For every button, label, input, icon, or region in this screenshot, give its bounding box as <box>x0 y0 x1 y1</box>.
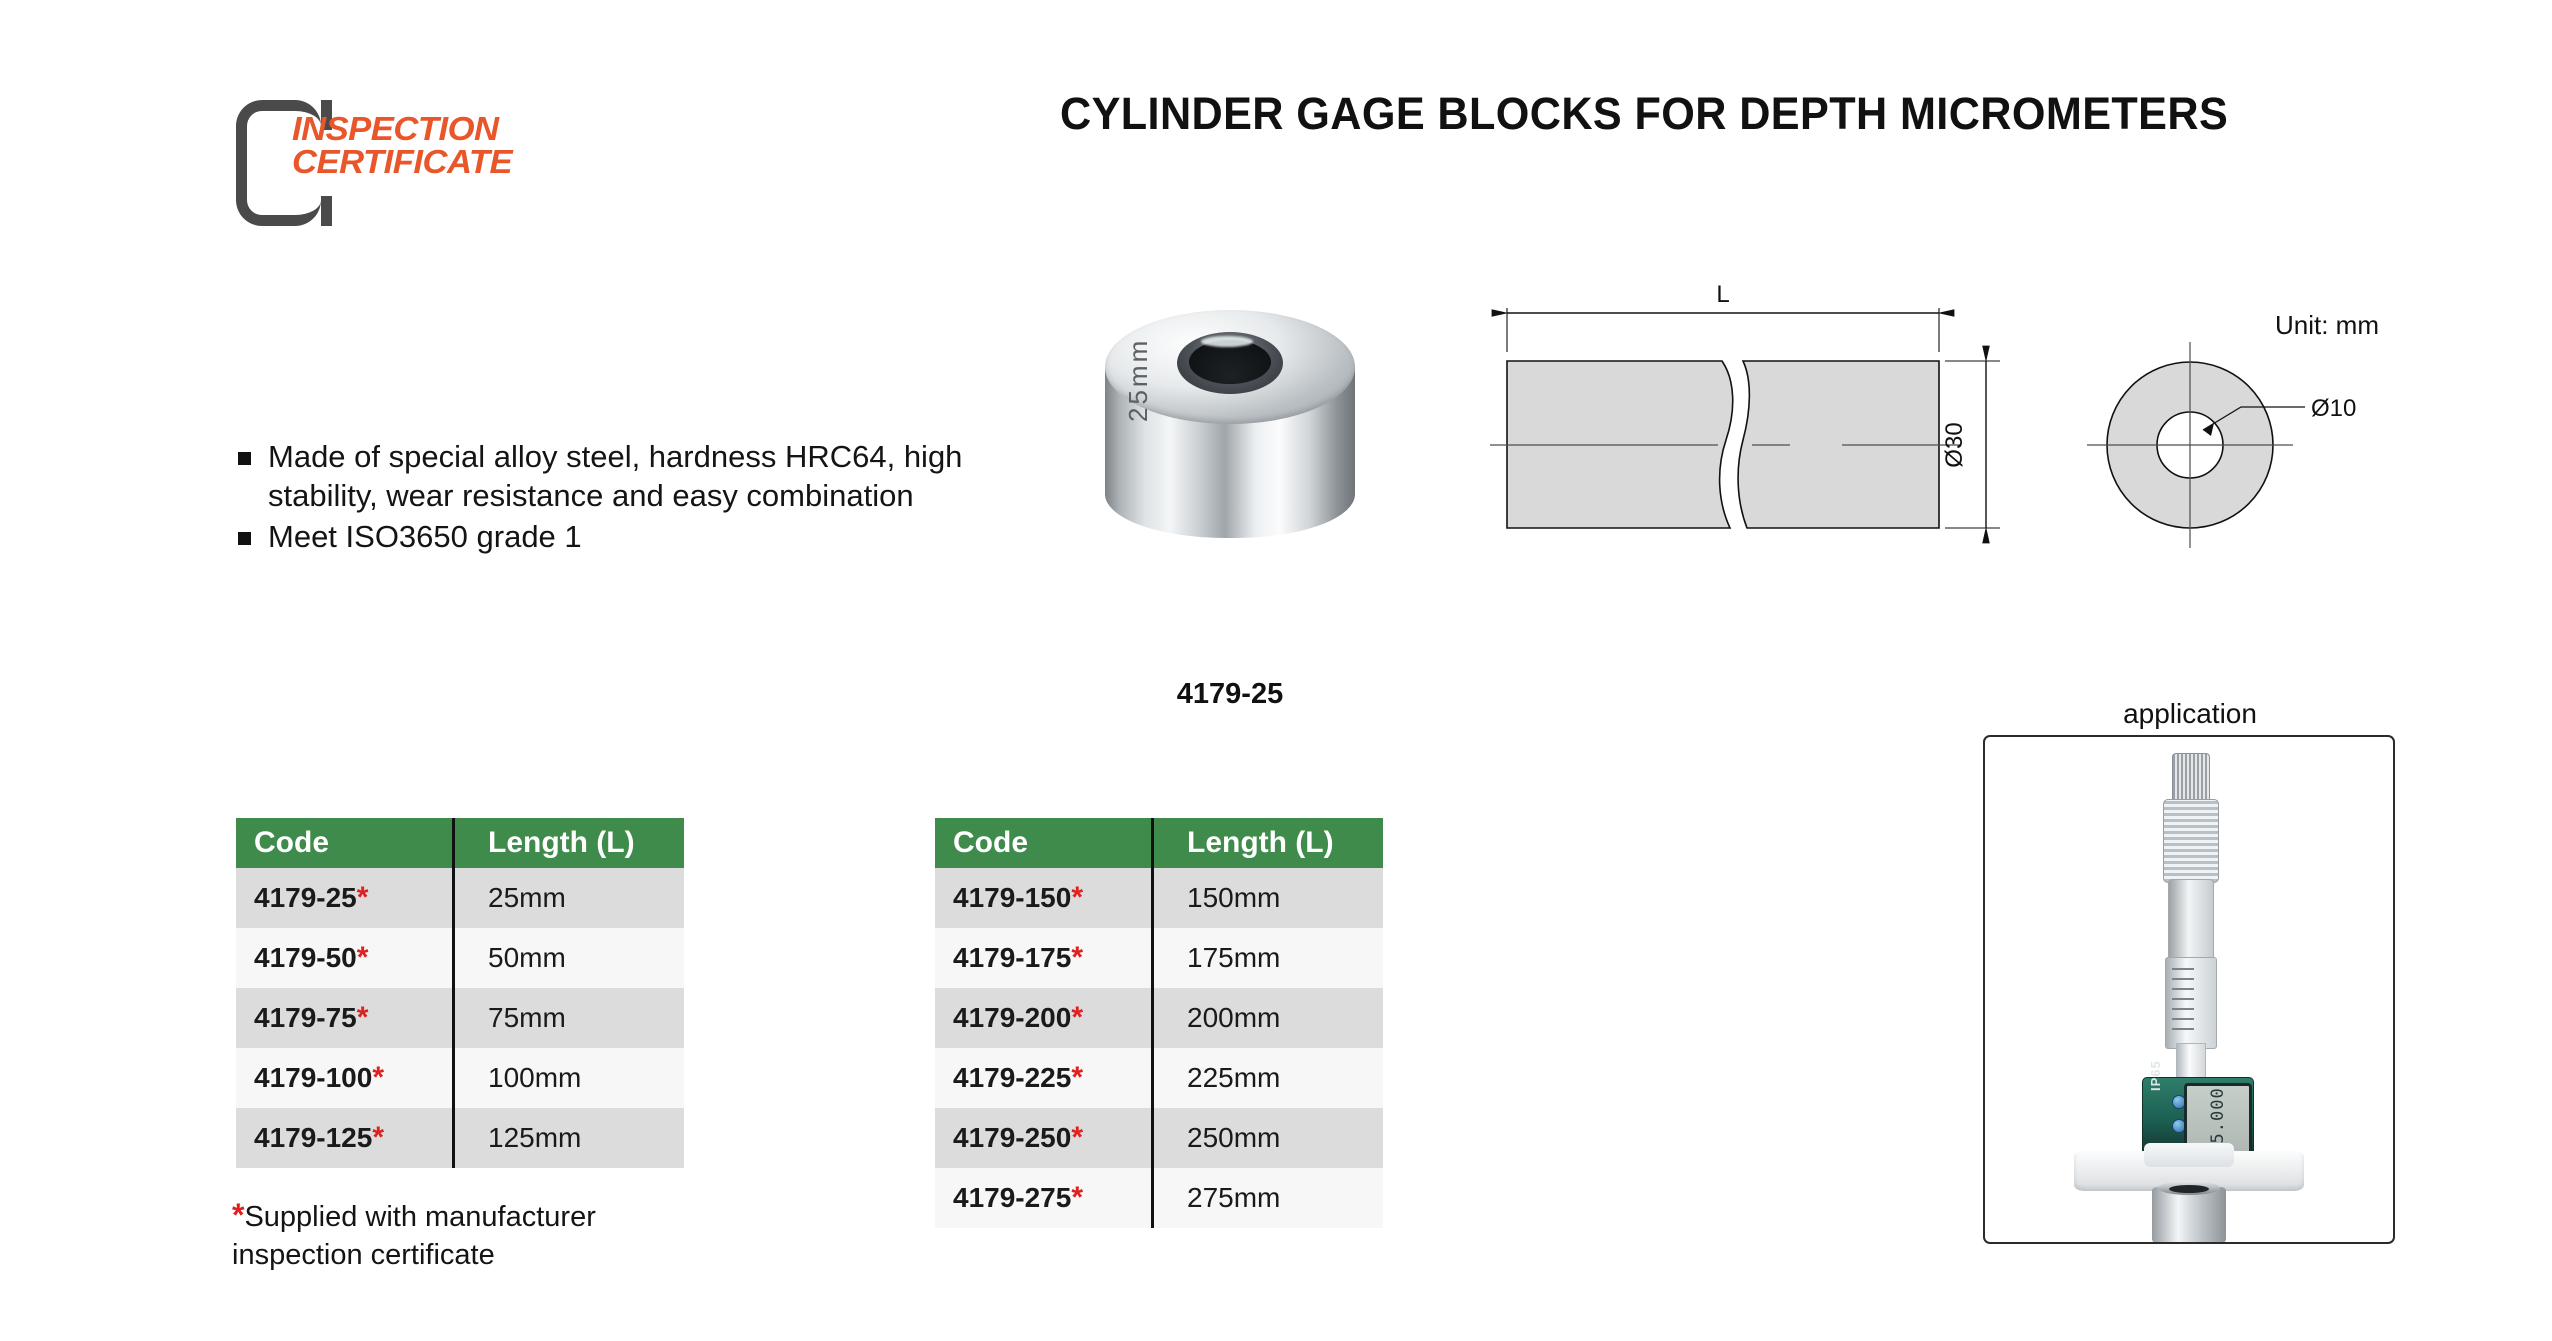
certificate-asterisk: * <box>1071 941 1083 974</box>
cell-code: 4179-125* <box>236 1108 470 1168</box>
bore-diameter-label: Ø10 <box>2311 395 2356 422</box>
code-text: 4179-25 <box>254 882 357 913</box>
cell-code: 4179-250* <box>935 1108 1169 1168</box>
cell-code: 4179-25* <box>236 868 470 928</box>
cell-code: 4179-50* <box>236 928 470 988</box>
cell-code: 4179-275* <box>935 1168 1169 1228</box>
code-text: 4179-125 <box>254 1122 372 1153</box>
code-text: 4179-175 <box>953 942 1071 973</box>
feature-list: Made of special alloy steel, hardness HR… <box>232 437 1042 558</box>
cylinder-bore-highlight <box>1201 336 1253 347</box>
footnote-text: Supplied with manufacturer inspection ce… <box>232 1201 596 1271</box>
depth-micrometer-image: IP65 25.000 <box>2064 747 2314 1232</box>
cell-length: 250mm <box>1169 1108 1383 1168</box>
cell-length: 25mm <box>470 868 684 928</box>
cell-code: 4179-225* <box>935 1048 1169 1108</box>
cell-code: 4179-150* <box>935 868 1169 928</box>
gage-block-under-micrometer <box>2152 1187 2226 1244</box>
application-panel: IP65 25.000 <box>1983 735 2395 1244</box>
column-header-code: Code <box>236 818 470 868</box>
outer-diameter-label: Ø30 <box>1941 422 1968 467</box>
certificate-asterisk: * <box>357 881 369 914</box>
inspection-certificate-logo: INSPECTION CERTIFICATE <box>236 96 556 211</box>
technical-drawing: L Ø30 Ø10 <box>1490 280 2540 580</box>
table-row[interactable]: 4179-50* 50mm <box>236 928 684 988</box>
micrometer-sleeve <box>2168 879 2214 961</box>
table-header-row: Code Length (L) <box>236 818 684 868</box>
cell-code: 4179-75* <box>236 988 470 1048</box>
table-row[interactable]: 4179-25* 25mm <box>236 868 684 928</box>
code-text: 4179-200 <box>953 1002 1071 1033</box>
cell-length: 50mm <box>470 928 684 988</box>
table-row[interactable]: 4179-150* 150mm <box>935 868 1383 928</box>
code-text: 4179-75 <box>254 1002 357 1033</box>
product-photo: 25mm <box>1085 300 1375 600</box>
certificate-asterisk: * <box>372 1121 384 1154</box>
drawing-svg: L Ø30 Ø10 <box>1490 280 2540 580</box>
table-right-column-divider <box>1151 818 1154 1228</box>
table-left-column-divider <box>452 818 455 1168</box>
code-text: 4179-100 <box>254 1062 372 1093</box>
feature-text: Meet ISO3650 grade 1 <box>268 519 582 554</box>
bullet-square-icon <box>238 532 251 545</box>
cell-length: 200mm <box>1169 988 1383 1048</box>
gage-block-cylinder: 25mm <box>1105 310 1355 575</box>
length-dimension-label: L <box>1716 281 1729 308</box>
ip-rating-label: IP65 <box>2148 1060 2163 1091</box>
cell-length: 225mm <box>1169 1048 1383 1108</box>
micrometer-graduation-scale <box>2165 957 2217 1049</box>
code-text: 4179-250 <box>953 1122 1071 1153</box>
list-item: Meet ISO3650 grade 1 <box>232 517 1042 556</box>
unit-label: Unit: mm <box>2275 310 2379 341</box>
cell-length: 125mm <box>470 1108 684 1168</box>
table-row[interactable]: 4179-225* 225mm <box>935 1048 1383 1108</box>
certificate-asterisk: * <box>372 1061 384 1094</box>
cell-code: 4179-175* <box>935 928 1169 988</box>
cell-length: 150mm <box>1169 868 1383 928</box>
table-row[interactable]: 4179-125* 125mm <box>236 1108 684 1168</box>
cell-length: 275mm <box>1169 1168 1383 1228</box>
footnote-asterisk: * <box>232 1197 244 1233</box>
cell-code: 4179-200* <box>935 988 1169 1048</box>
code-text: 4179-275 <box>953 1182 1071 1213</box>
page-title: CYLINDER GAGE BLOCKS FOR DEPTH MICROMETE… <box>1060 88 2404 140</box>
column-header-length: Length (L) <box>1169 818 1383 868</box>
table-row[interactable]: 4179-75* 75mm <box>236 988 684 1048</box>
certificate-asterisk: * <box>357 1001 369 1034</box>
cell-length: 100mm <box>470 1048 684 1108</box>
micrometer-thimble <box>2163 799 2219 883</box>
footnote: *Supplied with manufacturer inspection c… <box>232 1196 702 1274</box>
list-item: Made of special alloy steel, hardness HR… <box>232 437 1042 515</box>
cylinder-engraving: 25mm <box>1123 338 1154 422</box>
table-row[interactable]: 4179-200* 200mm <box>935 988 1383 1048</box>
table-row[interactable]: 4179-100* 100mm <box>236 1048 684 1108</box>
logo-wordmark: INSPECTION CERTIFICATE <box>292 112 502 178</box>
cell-length: 175mm <box>1169 928 1383 988</box>
table-header-row: Code Length (L) <box>935 818 1383 868</box>
column-header-code: Code <box>935 818 1169 868</box>
code-text: 4179-50 <box>254 942 357 973</box>
table-row[interactable]: 4179-175* 175mm <box>935 928 1383 988</box>
certificate-asterisk: * <box>1071 1181 1083 1214</box>
logo-line-1: INSPECTION <box>292 112 512 145</box>
product-photo-caption: 4179-25 <box>1085 678 1375 711</box>
cell-code: 4179-100* <box>236 1048 470 1108</box>
specification-table-right: Code Length (L) 4179-150* 150mm 4179-175… <box>935 818 1383 1228</box>
feature-text: Made of special alloy steel, hardness HR… <box>268 439 962 513</box>
certificate-asterisk: * <box>357 941 369 974</box>
application-label: application <box>1985 698 2395 730</box>
table-row[interactable]: 4179-250* 250mm <box>935 1108 1383 1168</box>
certificate-asterisk: * <box>1071 1061 1083 1094</box>
table-row[interactable]: 4179-275* 275mm <box>935 1168 1383 1228</box>
micrometer-ratchet-knob <box>2172 753 2210 803</box>
cell-length: 75mm <box>470 988 684 1048</box>
code-text: 4179-225 <box>953 1062 1071 1093</box>
code-text: 4179-150 <box>953 882 1071 913</box>
bullet-square-icon <box>238 452 251 465</box>
specification-table-left: Code Length (L) 4179-25* 25mm 4179-50* 5… <box>236 818 684 1168</box>
certificate-asterisk: * <box>1071 1001 1083 1034</box>
logo-line-2: CERTIFICATE <box>292 145 512 178</box>
certificate-asterisk: * <box>1071 1121 1083 1154</box>
column-header-length: Length (L) <box>470 818 684 868</box>
certificate-asterisk: * <box>1071 881 1083 914</box>
